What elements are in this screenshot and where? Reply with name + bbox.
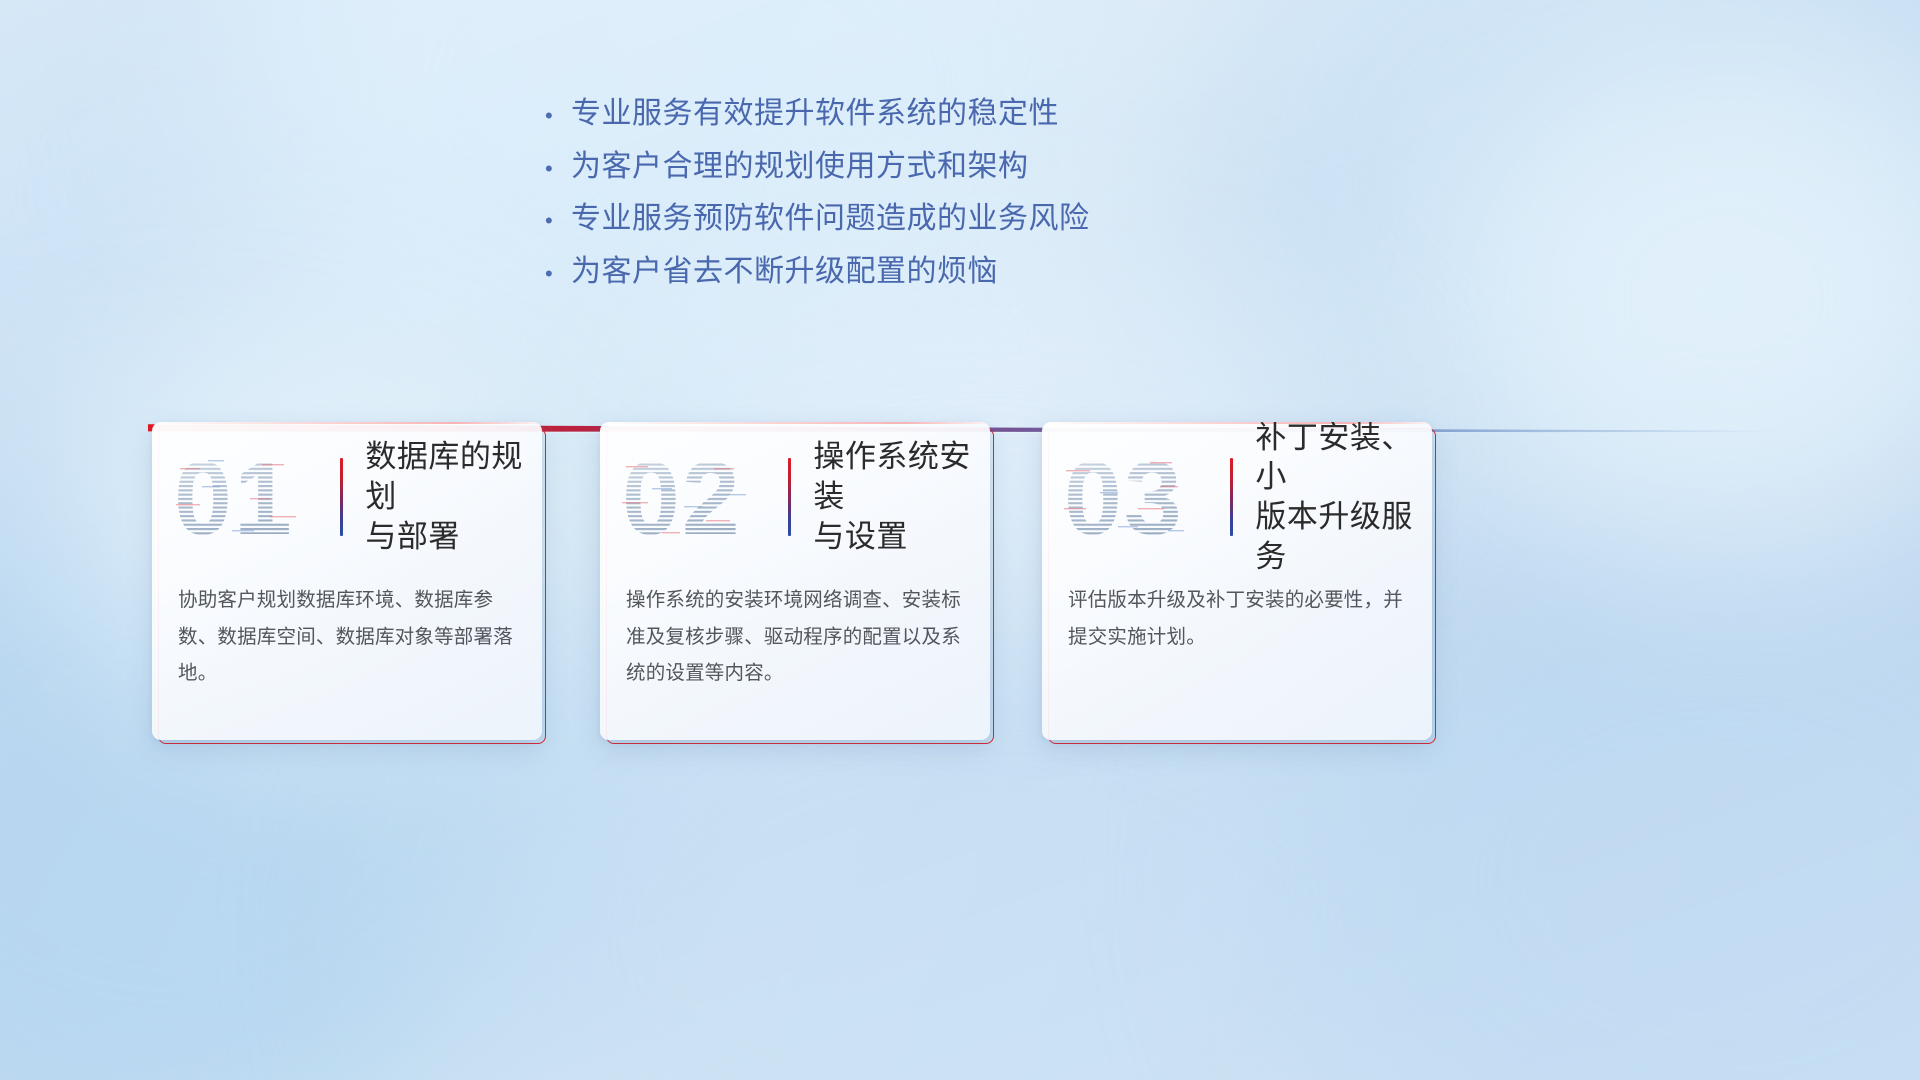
card-number-text: 02 bbox=[622, 442, 742, 552]
striped-number-icon: 02 bbox=[622, 442, 784, 552]
striped-number-icon: 01 bbox=[174, 442, 336, 552]
service-cards: 01 bbox=[0, 0, 1920, 1080]
card-title: 数据库的规划 与部署 bbox=[365, 437, 530, 556]
card-title-line-1: 补丁安装、小 bbox=[1255, 422, 1420, 497]
card-number-watermark: 03 bbox=[1064, 442, 1226, 552]
card-header: 03 bbox=[1042, 436, 1432, 558]
card-title-line-2: 版本升级服务 bbox=[1255, 497, 1420, 576]
card-top-edge bbox=[152, 422, 542, 424]
card-surface: 02 bbox=[600, 422, 990, 740]
card-accent-bar bbox=[1230, 458, 1233, 536]
card-body-text: 操作系统的安装环境网络调查、安装标准及复核步骤、驱动程序的配置以及系统的设置等内… bbox=[626, 582, 968, 692]
service-card-02[interactable]: 02 bbox=[600, 422, 990, 740]
card-number-text: 03 bbox=[1064, 442, 1184, 552]
card-number-watermark: 02 bbox=[622, 442, 784, 552]
card-body-text: 评估版本升级及补丁安装的必要性，并提交实施计划。 bbox=[1068, 582, 1410, 655]
card-accent-bar bbox=[788, 458, 791, 536]
card-title-line-1: 数据库的规划 bbox=[365, 437, 530, 516]
card-title-line-2: 与设置 bbox=[813, 517, 978, 557]
card-header: 01 bbox=[152, 436, 542, 558]
card-top-edge bbox=[600, 422, 990, 424]
card-number-text: 01 bbox=[174, 442, 294, 552]
card-surface: 01 bbox=[152, 422, 542, 740]
card-title-line-2: 与部署 bbox=[365, 517, 530, 557]
service-card-03[interactable]: 03 bbox=[1042, 422, 1432, 740]
card-number-watermark: 01 bbox=[174, 442, 336, 552]
striped-number-icon: 03 bbox=[1064, 442, 1226, 552]
card-title: 操作系统安装 与设置 bbox=[813, 437, 978, 556]
card-surface: 03 bbox=[1042, 422, 1432, 740]
card-title: 补丁安装、小 版本升级服务 bbox=[1255, 422, 1420, 576]
service-card-01[interactable]: 01 bbox=[152, 422, 542, 740]
card-accent-bar bbox=[340, 458, 343, 536]
card-header: 02 bbox=[600, 436, 990, 558]
card-title-line-1: 操作系统安装 bbox=[813, 437, 978, 516]
card-body-text: 协助客户规划数据库环境、数据库参数、数据库空间、数据库对象等部署落地。 bbox=[178, 582, 520, 692]
